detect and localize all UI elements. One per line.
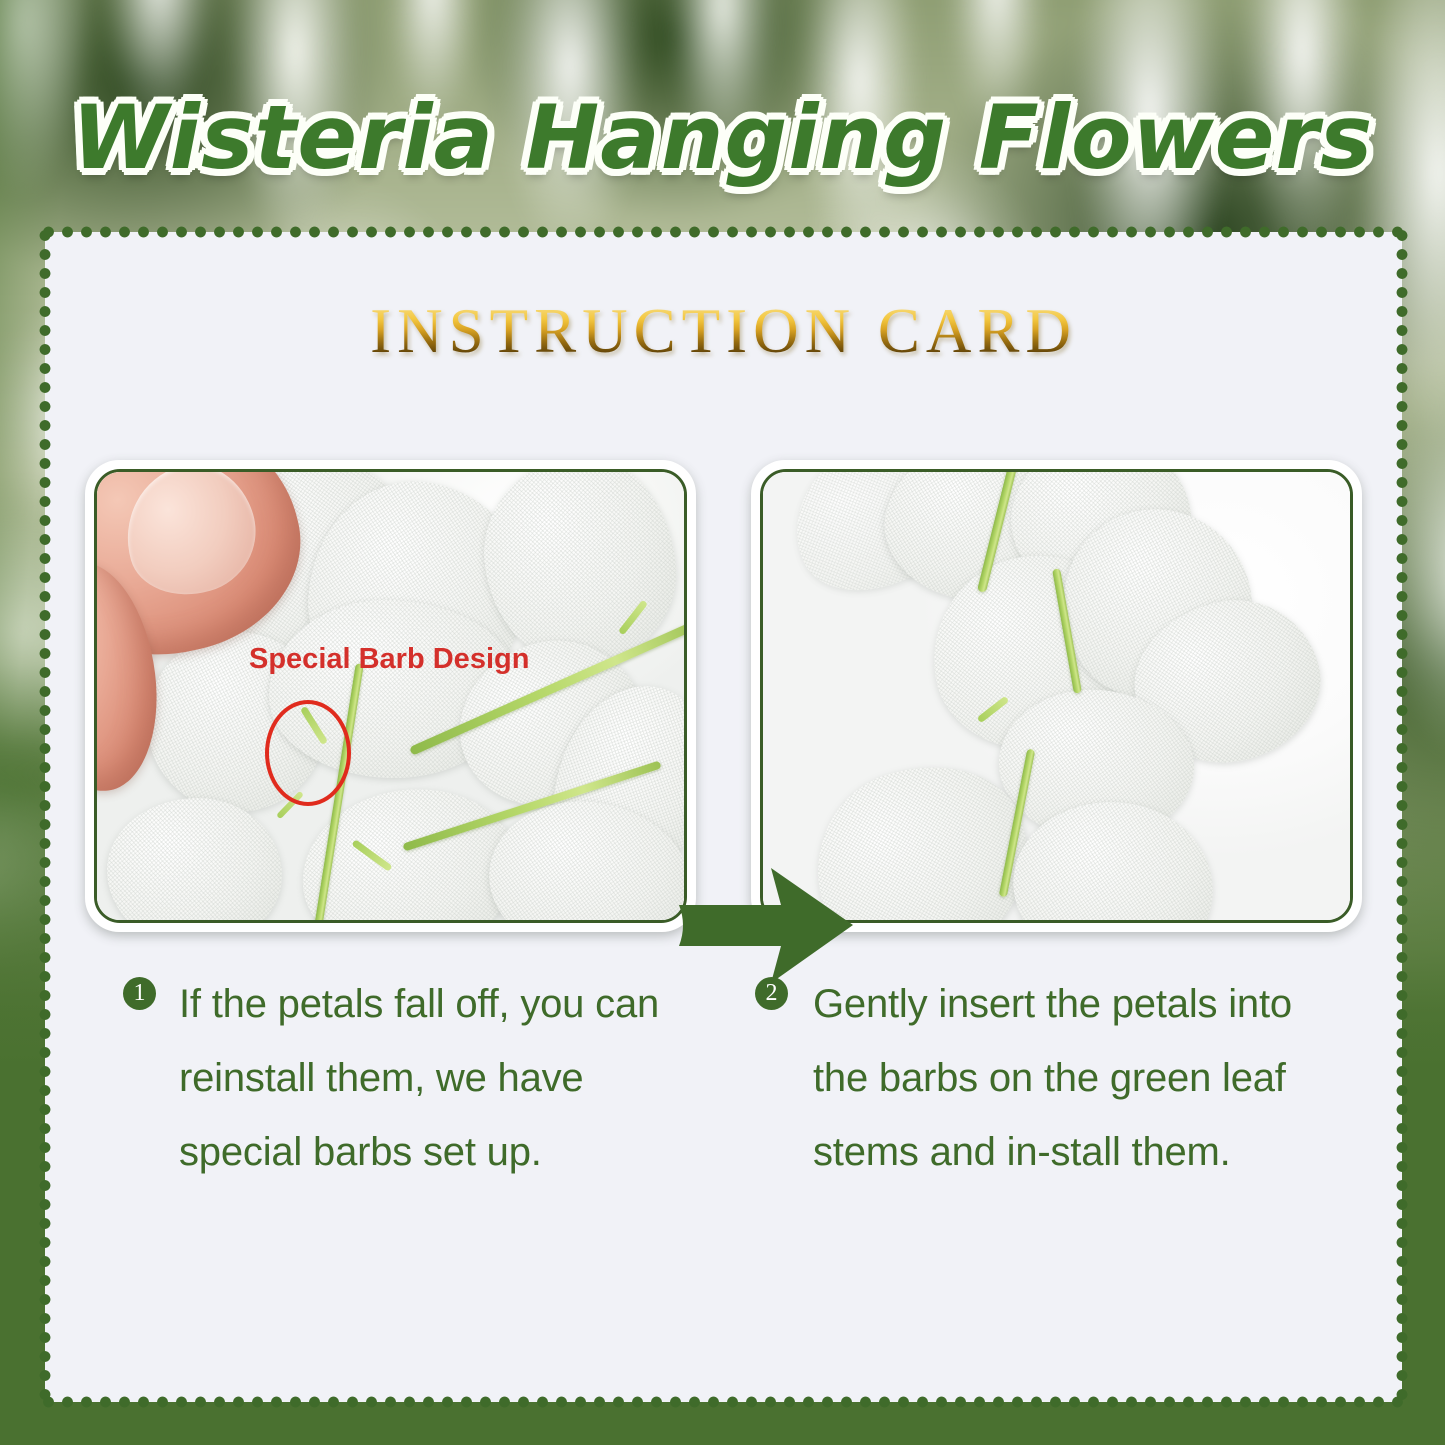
before-photo-frame: Special Barb Design <box>94 469 687 923</box>
card-heading: INSTRUCTION CARD <box>45 294 1402 368</box>
right-arrow-icon <box>673 865 858 985</box>
step-description: If the petals fall off, you can reinstal… <box>179 967 683 1189</box>
instruction-card: INSTRUCTION CARD <box>45 232 1402 1402</box>
photo-panel-group: Special Barb Design <box>85 460 1362 932</box>
step-item-2: 2 Gently insert the petals into the barb… <box>755 967 1315 1189</box>
instruction-card-page: Wisteria Hanging Flowers INSTRUCTION CAR… <box>0 0 1445 1445</box>
step-description: Gently insert the petals into the barbs … <box>813 967 1315 1189</box>
barb-annotation-label: Special Barb Design <box>249 642 529 676</box>
page-title: Wisteria Hanging Flowers <box>0 88 1445 188</box>
transition-arrow <box>673 865 858 985</box>
step-number-badge: 1 <box>123 977 156 1010</box>
step-item-1: 1 If the petals fall off, you can reinst… <box>123 967 683 1189</box>
after-photo-frame <box>760 469 1353 923</box>
after-photo-panel <box>751 460 1362 932</box>
barb-highlight-ellipse <box>265 700 351 806</box>
before-photo-panel: Special Barb Design <box>85 460 696 932</box>
